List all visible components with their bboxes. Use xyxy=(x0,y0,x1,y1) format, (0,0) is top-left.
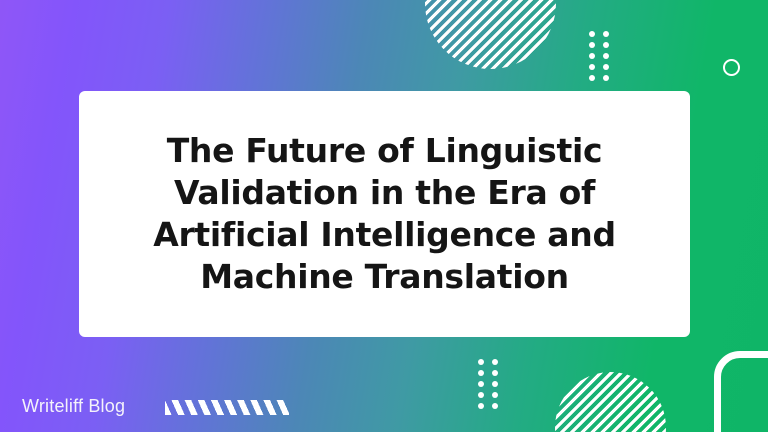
page-title: The Future of Linguistic Validation in t… xyxy=(150,130,620,298)
blog-title-card-poster: The Future of Linguistic Validation in t… xyxy=(0,0,768,432)
brand-wordmark: Writeliff Blog xyxy=(22,396,125,417)
title-card: The Future of Linguistic Validation in t… xyxy=(79,91,690,337)
